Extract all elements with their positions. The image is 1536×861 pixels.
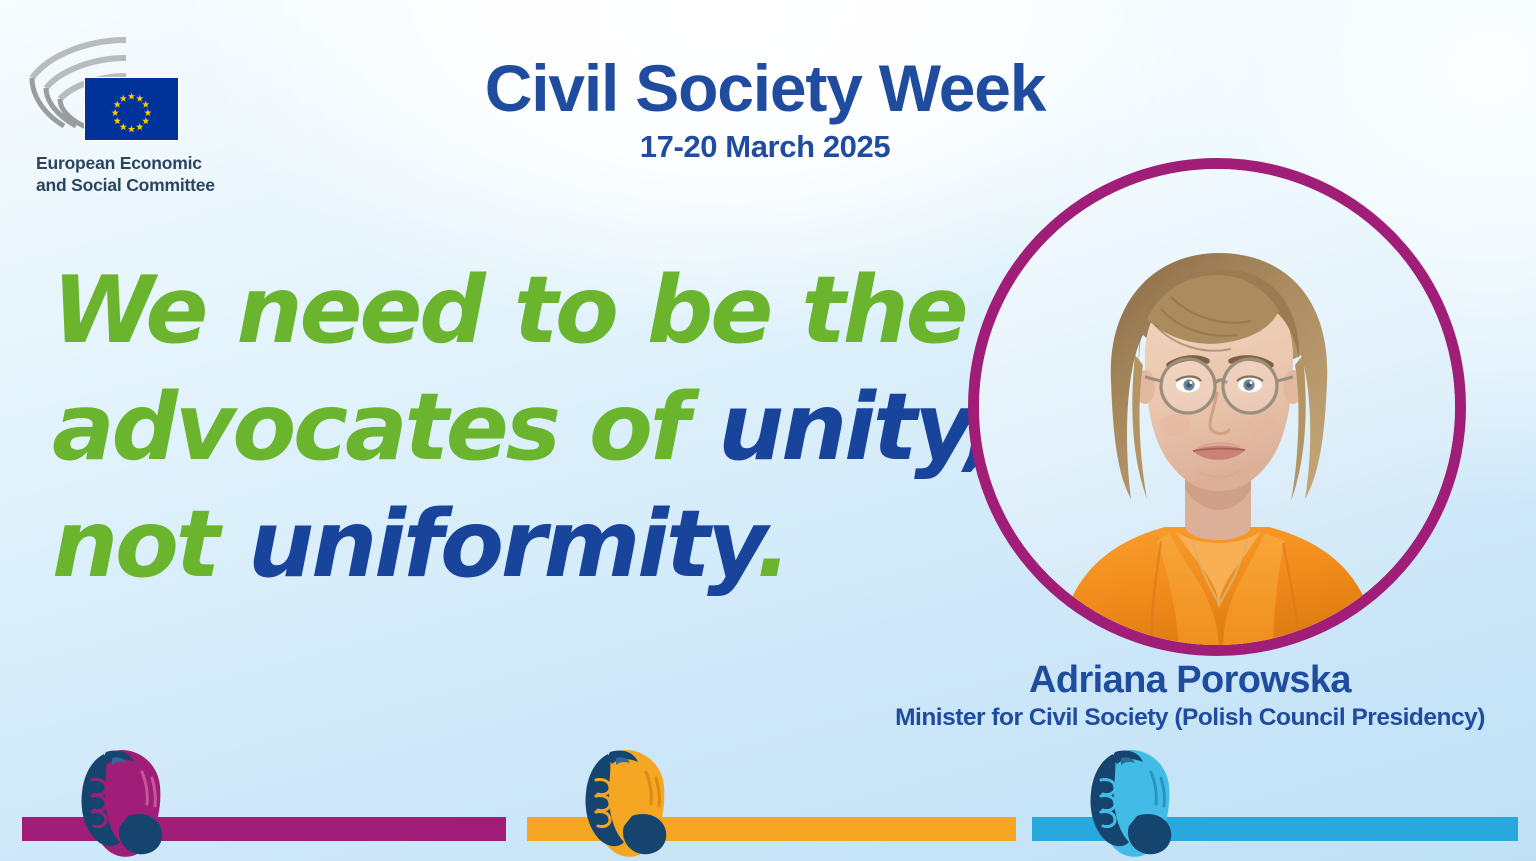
quote-text: We need to be the advocates of unity, no… — [52, 252, 992, 604]
quote-line-3-green-pre: not — [52, 490, 248, 598]
quote-line-3: not uniformity. — [52, 486, 992, 603]
speaker-name: Adriana Porowska — [866, 660, 1514, 702]
quote-line-2: advocates of unity, — [52, 369, 992, 486]
quote-line-2-blue: unity, — [718, 373, 996, 481]
eesc-name-line-2: and Social Committee — [36, 175, 244, 197]
quote-line-3-blue: uniformity — [248, 490, 756, 598]
slide-canvas: European Economic and Social Committee C… — [0, 0, 1536, 861]
handshake-icon — [1075, 746, 1193, 861]
page-title: Civil Society Week — [260, 55, 1270, 121]
eesc-logo-text: European Economic and Social Committee — [36, 153, 244, 197]
speaker-role: Minister for Civil Society (Polish Counc… — [866, 704, 1514, 732]
avatar — [968, 158, 1466, 656]
speaker-caption: Adriana Porowska Minister for Civil Soci… — [866, 660, 1514, 732]
european-union-flag-icon — [84, 77, 179, 141]
quote-line-3-green-post: . — [756, 490, 788, 598]
quote-line-1: We need to be the — [52, 252, 992, 369]
quote-line-2-green: advocates of — [52, 373, 718, 481]
handshake-icon — [570, 746, 688, 861]
eesc-name-line-1: European Economic — [36, 153, 244, 175]
eesc-logo: European Economic and Social Committee — [14, 26, 244, 206]
handshake-icon — [66, 746, 184, 861]
portrait-ring — [968, 158, 1466, 656]
quote-line-1-green: We need to be the — [52, 256, 965, 364]
speaker-portrait-icon — [979, 169, 1455, 645]
header: Civil Society Week 17-20 March 2025 — [260, 55, 1270, 165]
